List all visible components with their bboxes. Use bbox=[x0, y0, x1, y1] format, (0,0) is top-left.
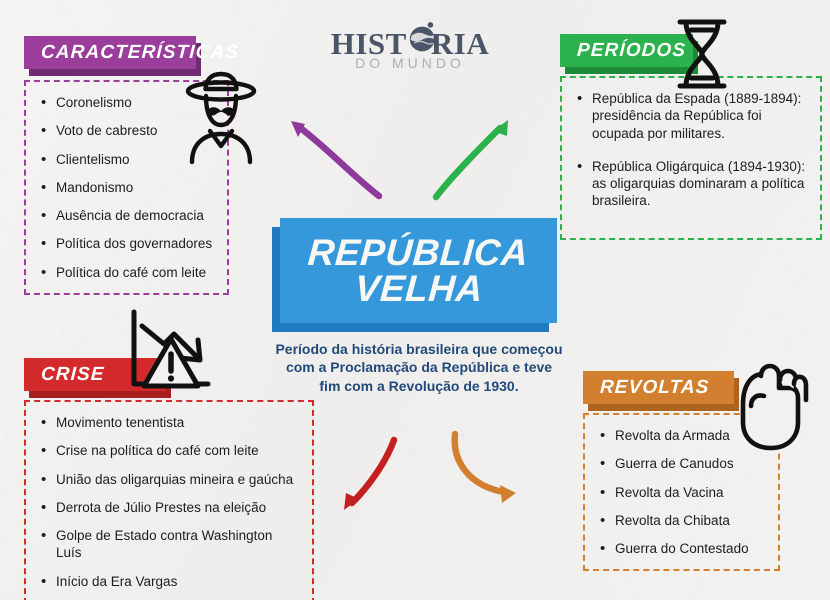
center-title-line2: VELHA bbox=[353, 271, 483, 307]
list-item: Golpe de Estado contra Washington Luís bbox=[36, 527, 298, 562]
arrow-to-crise bbox=[344, 440, 394, 510]
section-title-revoltas: Revoltas bbox=[599, 377, 710, 399]
list-item: União das oligarquias mineira e gaúcha bbox=[36, 471, 298, 488]
list-items-periodos: República da Espada (1889-1894): presidê… bbox=[572, 90, 806, 210]
hourglass-icon bbox=[666, 14, 738, 94]
arrow-to-revoltas bbox=[455, 434, 516, 503]
center-description: Período da história brasileira que começ… bbox=[274, 340, 564, 395]
list-item: Início da Era Vargas bbox=[36, 573, 298, 590]
list-item: Política do café com leite bbox=[36, 264, 213, 281]
center-topic-box: REPÚBLICA VELHA bbox=[280, 218, 557, 323]
logo-wordmark: HISTORIA bbox=[320, 28, 500, 59]
section-title-caracteristicas: Características bbox=[40, 42, 239, 64]
list-item: Crise na política do café com leite bbox=[36, 442, 298, 459]
center-title-line1: REPÚBLICA bbox=[307, 235, 530, 271]
logo-text-left: HIST bbox=[331, 26, 407, 61]
list-item: Ausência de democracia bbox=[36, 207, 213, 224]
coronel-man-icon bbox=[176, 68, 266, 168]
globe-icon bbox=[406, 20, 440, 53]
arrow-to-periodos bbox=[436, 120, 508, 197]
list-crise: Movimento tenentista Crise na política d… bbox=[24, 400, 314, 600]
list-item: Política dos governadores bbox=[36, 235, 213, 252]
section-title-crise: Crise bbox=[40, 364, 105, 386]
list-item: Guerra de Canudos bbox=[595, 455, 764, 472]
list-item: Derrota de Júlio Prestes na eleição bbox=[36, 499, 298, 516]
list-item: Revolta da Vacina bbox=[595, 484, 764, 501]
section-header-revoltas: Revoltas bbox=[583, 371, 734, 404]
list-item: Movimento tenentista bbox=[36, 414, 298, 431]
list-periodos: República da Espada (1889-1894): presidê… bbox=[560, 76, 822, 240]
list-item: República da Espada (1889-1894): presidê… bbox=[572, 90, 806, 142]
section-header-caracteristicas: Características bbox=[24, 36, 196, 69]
list-item: República Oligárquica (1894-1930): as ol… bbox=[572, 158, 806, 210]
infographic-canvas: HISTORIA DO MUNDO Características Corone… bbox=[0, 0, 830, 600]
site-logo: HISTORIA DO MUNDO bbox=[320, 28, 500, 71]
raised-fist-icon bbox=[727, 360, 811, 452]
arrow-to-caracteristicas bbox=[291, 121, 379, 196]
declining-chart-warning-icon bbox=[122, 306, 216, 392]
list-items-crise: Movimento tenentista Crise na política d… bbox=[36, 414, 298, 590]
list-item: Revolta da Chibata bbox=[595, 512, 764, 529]
list-item: Guerra do Contestado bbox=[595, 540, 764, 557]
list-item: Mandonismo bbox=[36, 179, 213, 196]
